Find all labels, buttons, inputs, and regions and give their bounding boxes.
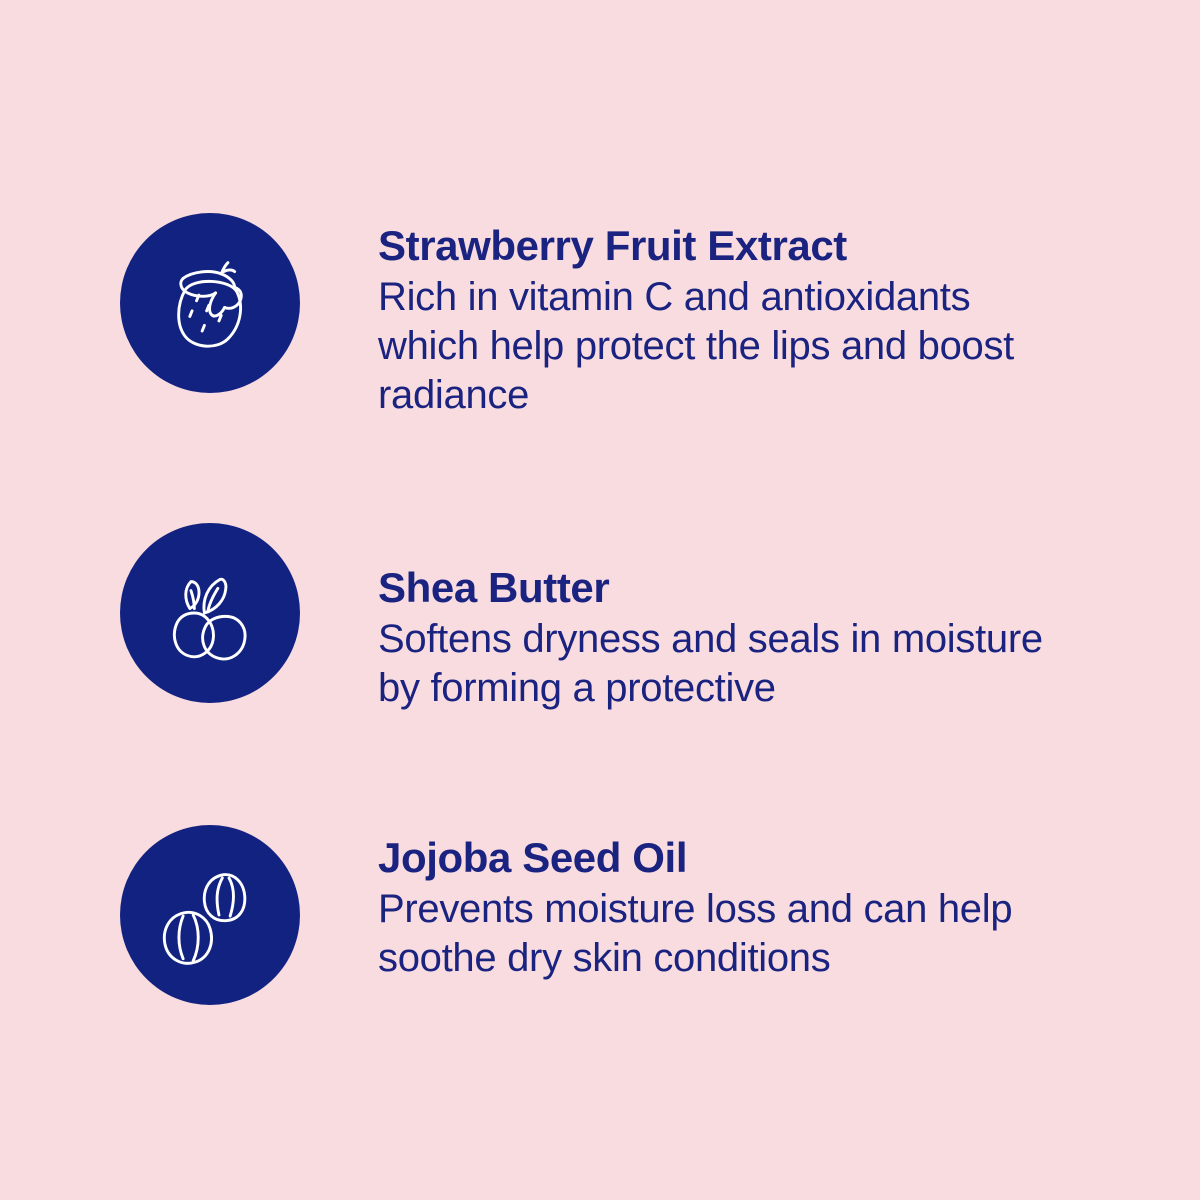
strawberry-icon: [154, 247, 266, 359]
ingredient-benefits-panel: Strawberry Fruit Extract Rich in vitamin…: [0, 0, 1200, 1200]
feature-item-strawberry: Strawberry Fruit Extract Rich in vitamin…: [120, 213, 1078, 420]
feature-list: Strawberry Fruit Extract Rich in vitamin…: [0, 0, 1200, 1200]
strawberry-icon-badge: [120, 213, 300, 393]
feature-title: Shea Butter: [378, 563, 1078, 613]
feature-title: Jojoba Seed Oil: [378, 833, 1078, 883]
feature-description: Prevents moisture loss and can help soot…: [378, 885, 1078, 983]
feature-title: Strawberry Fruit Extract: [378, 221, 1078, 271]
shea-nut-icon: [154, 557, 266, 669]
feature-text-shea-butter: Shea Butter Softens dryness and seals in…: [378, 523, 1078, 713]
shea-nut-icon-badge: [120, 523, 300, 703]
feature-description: Rich in vitamin C and antioxidants which…: [378, 273, 1078, 420]
feature-text-strawberry: Strawberry Fruit Extract Rich in vitamin…: [378, 213, 1078, 420]
feature-item-shea-butter: Shea Butter Softens dryness and seals in…: [120, 523, 1078, 713]
feature-item-jojoba: Jojoba Seed Oil Prevents moisture loss a…: [120, 825, 1078, 1005]
feature-text-jojoba: Jojoba Seed Oil Prevents moisture loss a…: [378, 825, 1078, 983]
feature-description: Softens dryness and seals in moisture by…: [378, 615, 1078, 713]
jojoba-seed-icon: [154, 859, 266, 971]
jojoba-seed-icon-badge: [120, 825, 300, 1005]
